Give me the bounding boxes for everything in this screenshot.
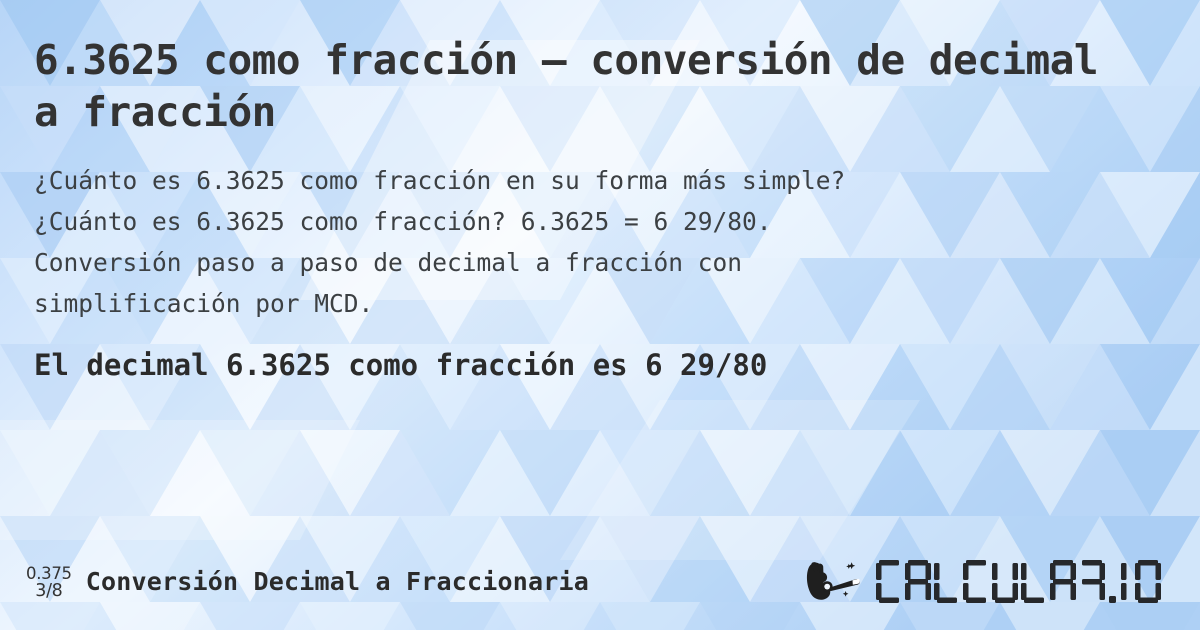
- decimal-fraction-logo-icon: 0.375 3/8: [26, 563, 72, 602]
- card-footer: 0.375 3/8 Conversión Decimal a Fracciona…: [0, 534, 1200, 630]
- description-line-1: ¿Cuánto es 6.3625 como fracción en su fo…: [34, 160, 1154, 201]
- description-line-3: Conversión paso a paso de decimal a frac…: [34, 242, 1154, 283]
- logo-fraction-value: 3/8: [35, 582, 62, 601]
- magic-wand-hand-icon: [805, 561, 869, 603]
- logo-decimal-value: 0.375: [26, 565, 72, 583]
- og-card: 6.3625 como fracción – conversión de dec…: [0, 0, 1200, 630]
- page-description: ¿Cuánto es 6.3625 como fracción en su fo…: [34, 160, 1154, 324]
- answer-statement: El decimal 6.3625 como fracción es 6 29/…: [34, 346, 1166, 384]
- footer-left-group: 0.375 3/8 Conversión Decimal a Fracciona…: [26, 563, 589, 602]
- description-line-4: simplificación por MCD.: [34, 283, 1154, 324]
- footer-category-title: Conversión Decimal a Fraccionaria: [86, 567, 589, 596]
- page-title: 6.3625 como fracción – conversión de dec…: [34, 34, 1144, 138]
- calculatio-wordmark: [876, 559, 1166, 605]
- brand-logo[interactable]: [805, 559, 1174, 605]
- description-line-2: ¿Cuánto es 6.3625 como fracción? 6.3625 …: [34, 201, 1154, 242]
